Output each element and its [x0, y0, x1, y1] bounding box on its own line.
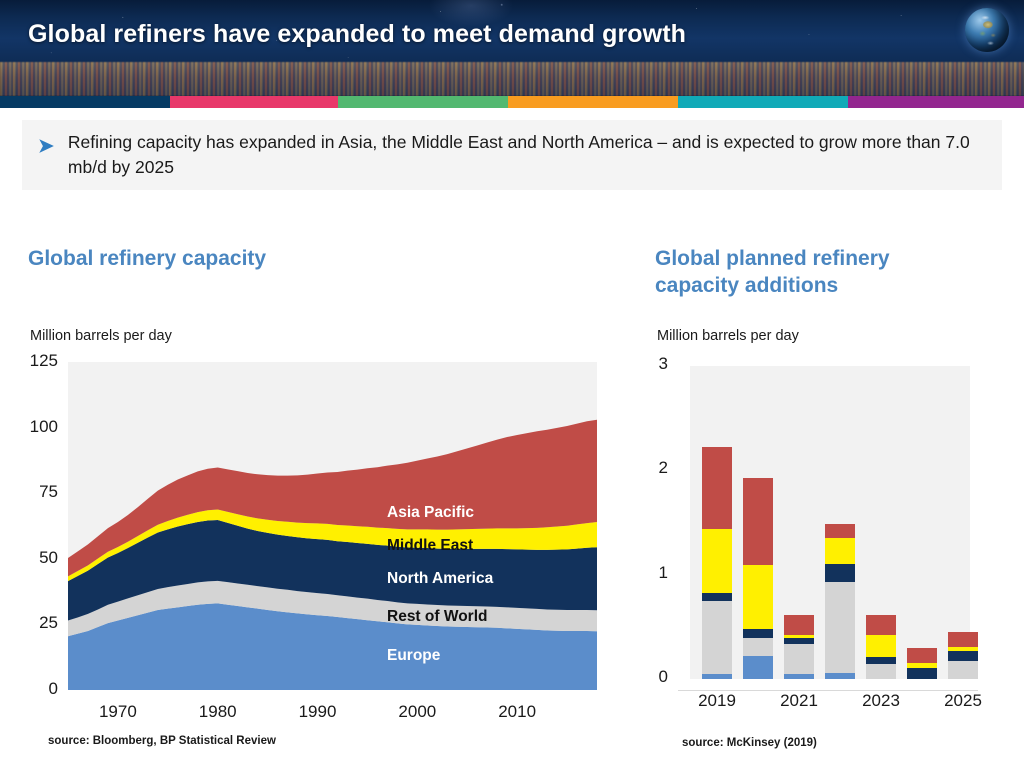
left-x-tick-2000: 2000	[377, 702, 457, 722]
right-chart-title: Global planned refinery capacity additio…	[655, 246, 955, 300]
right-y-tick-0: 0	[630, 667, 668, 687]
series-label-rest-of-world: Rest of World	[387, 608, 487, 626]
bar-segment-2025-north-america	[948, 651, 978, 661]
right-chart-plot-area	[690, 366, 970, 679]
right-x-tick-2023: 2023	[841, 691, 921, 711]
bar-segment-2021-asia-pacific	[784, 615, 814, 635]
bar-segment-2025-rest-of-world	[948, 661, 978, 679]
left-chart-axis-caption: Million barrels per day	[30, 328, 172, 344]
bar-segment-2024-north-america	[907, 668, 937, 679]
right-x-tick-2019: 2019	[677, 691, 757, 711]
bar-segment-2023-north-america	[866, 657, 896, 664]
earth-globe-icon	[965, 8, 1009, 52]
left-chart-title: Global refinery capacity	[28, 246, 358, 273]
left-y-tick-75: 75	[8, 482, 58, 502]
bar-segment-2019-middle-east	[702, 529, 732, 594]
left-y-tick-25: 25	[8, 613, 58, 633]
left-chart-svg	[68, 362, 597, 690]
left-y-tick-100: 100	[8, 417, 58, 437]
bar-segment-2019-rest-of-world	[702, 601, 732, 674]
strip-segment-1	[0, 96, 170, 108]
right-chart-axis-caption: Million barrels per day	[657, 328, 799, 344]
callout-text: Refining capacity has expanded in Asia, …	[68, 130, 1002, 180]
strip-segment-6	[848, 96, 1024, 108]
left-y-tick-125: 125	[8, 351, 58, 371]
page-title: Global refiners have expanded to meet de…	[28, 20, 686, 49]
chevron-bullet-icon: ➤	[38, 137, 54, 156]
bar-segment-2019-europe	[702, 674, 732, 679]
strip-segment-2	[170, 96, 338, 108]
series-label-europe: Europe	[387, 647, 440, 665]
bar-segment-2020-asia-pacific	[743, 478, 773, 566]
bar-segment-2023-asia-pacific	[866, 615, 896, 635]
bar-2019	[702, 447, 732, 679]
bar-segment-2019-north-america	[702, 593, 732, 600]
bar-segment-2020-middle-east	[743, 565, 773, 629]
slide: Global refiners have expanded to meet de…	[0, 0, 1024, 768]
bar-segment-2022-europe	[825, 673, 855, 679]
bar-2025	[948, 632, 978, 679]
bar-2021	[784, 615, 814, 679]
bar-segment-2024-asia-pacific	[907, 648, 937, 664]
strip-segment-5	[678, 96, 848, 108]
bar-2023	[866, 615, 896, 679]
left-y-tick-50: 50	[8, 548, 58, 568]
right-x-tick-2021: 2021	[759, 691, 839, 711]
accent-color-strip	[0, 96, 1024, 108]
bar-2020	[743, 478, 773, 679]
series-label-north-america: North America	[387, 570, 493, 588]
bar-segment-2022-middle-east	[825, 538, 855, 564]
left-x-tick-1980: 1980	[178, 702, 258, 722]
strip-segment-4	[508, 96, 678, 108]
series-label-asia-pacific: Asia Pacific	[387, 504, 474, 522]
bar-segment-2025-asia-pacific	[948, 632, 978, 647]
left-y-tick-0: 0	[8, 679, 58, 699]
left-x-tick-1970: 1970	[78, 702, 158, 722]
bar-segment-2023-middle-east	[866, 635, 896, 657]
bar-segment-2022-north-america	[825, 564, 855, 582]
left-x-tick-1990: 1990	[278, 702, 358, 722]
bar-segment-2022-rest-of-world	[825, 582, 855, 673]
bar-2024	[907, 648, 937, 679]
bar-segment-2023-rest-of-world	[866, 664, 896, 679]
callout-box: ➤ Refining capacity has expanded in Asia…	[22, 120, 1002, 190]
bar-segment-2021-rest-of-world	[784, 644, 814, 674]
right-x-tick-2025: 2025	[923, 691, 1003, 711]
right-y-tick-2: 2	[630, 458, 668, 478]
bar-segment-2022-asia-pacific	[825, 524, 855, 539]
series-label-middle-east: Middle East	[387, 537, 473, 555]
right-y-tick-1: 1	[630, 563, 668, 583]
bar-segment-2021-europe	[784, 674, 814, 679]
bar-segment-2020-europe	[743, 656, 773, 679]
right-chart-source: source: McKinsey (2019)	[682, 737, 817, 749]
left-x-tick-2010: 2010	[477, 702, 557, 722]
right-y-tick-3: 3	[630, 354, 668, 374]
left-chart-source: source: Bloomberg, BP Statistical Review	[48, 735, 276, 747]
bar-segment-2020-rest-of-world	[743, 638, 773, 656]
bar-segment-2020-north-america	[743, 629, 773, 638]
left-chart-plot-area	[68, 362, 597, 690]
strip-segment-3	[338, 96, 508, 108]
bar-2022	[825, 524, 855, 679]
slide-header: Global refiners have expanded to meet de…	[0, 0, 1024, 96]
city-lights-decoration	[0, 62, 1024, 96]
bar-segment-2019-asia-pacific	[702, 447, 732, 528]
